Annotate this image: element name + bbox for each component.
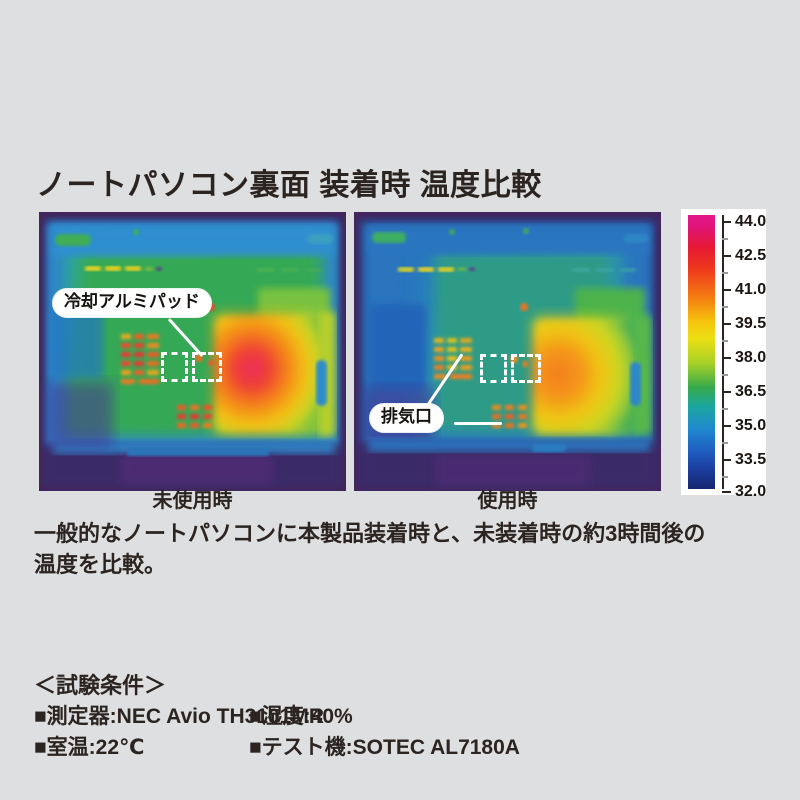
colorbar-tick-minor xyxy=(722,476,728,478)
colorbar-tick-minor xyxy=(722,442,728,444)
temperature-colorbar: 44.0 42.5 41.0 39.5 38.0 36.5 35.0 33.5 … xyxy=(681,209,766,495)
caption-used: 使用時 xyxy=(354,484,661,513)
callout-exhaust-vent: 排気口 xyxy=(370,404,443,432)
dashed-box-left xyxy=(161,352,188,382)
thermal-image-used: 排気口 xyxy=(354,212,661,491)
dashed-box-left xyxy=(480,354,507,383)
dashed-box-right xyxy=(511,354,541,383)
colorbar-tick-major xyxy=(722,391,731,393)
colorbar-tick-minor xyxy=(722,306,728,308)
thermal-heatmap-used xyxy=(354,212,661,491)
colorbar-label: 44.0 xyxy=(735,214,766,230)
condition-humidity: ■湿度:40% xyxy=(249,703,774,731)
colorbar-tick-minor xyxy=(722,408,728,410)
test-conditions-section: ＜試験条件＞ ■測定器:NEC Avio TH3101MR ■湿度:40% ■室… xyxy=(34,668,774,763)
description-line-2: 温度を比較。 xyxy=(34,549,774,580)
thermal-comparison-figure: 冷却アルミパッド xyxy=(39,212,761,492)
colorbar-axis: 44.0 42.5 41.0 39.5 38.0 36.5 35.0 33.5 … xyxy=(722,211,766,493)
colorbar-label: 39.5 xyxy=(735,316,766,332)
callout-leader-line-vent-lower xyxy=(454,422,502,425)
colorbar-label: 38.0 xyxy=(735,350,766,366)
colorbar-tick-major xyxy=(722,425,731,427)
thermal-canvas-used xyxy=(354,212,661,491)
colorbar-tick-major xyxy=(722,289,731,291)
colorbar-tick-major xyxy=(722,323,731,325)
dashed-box-right xyxy=(192,352,222,382)
description-line-1: 一般的なノートパソコンに本製品装着時と、未装着時の約3時間後の xyxy=(34,518,774,549)
test-conditions-row-2: ■室温:22℃ ■テスト機:SOTEC AL7180A xyxy=(34,734,774,762)
colorbar-tick-major xyxy=(722,491,731,493)
colorbar-label: 42.5 xyxy=(735,248,766,264)
test-conditions-col-right: ■テスト機:SOTEC AL7180A xyxy=(249,734,774,762)
caption-unused: 未使用時 xyxy=(39,484,346,513)
colorbar-tick-major xyxy=(722,255,731,257)
colorbar-label: 41.0 xyxy=(735,282,766,298)
colorbar-tick-minor xyxy=(722,238,728,240)
colorbar-tick-minor xyxy=(722,272,728,274)
test-conditions-col-left: ■測定器:NEC Avio TH3101MR xyxy=(34,703,249,731)
colorbar-gradient xyxy=(688,215,715,489)
test-conditions-col-right: ■湿度:40% xyxy=(249,703,774,731)
colorbar-label: 33.5 xyxy=(735,452,766,468)
condition-measuring-device: ■測定器:NEC Avio TH3101MR xyxy=(34,703,249,731)
test-conditions-heading: ＜試験条件＞ xyxy=(34,668,774,700)
test-conditions-col-left: ■室温:22℃ xyxy=(34,734,249,762)
colorbar-tick-major xyxy=(722,459,731,461)
colorbar-label: 32.0 xyxy=(735,484,766,500)
colorbar-tick-major xyxy=(722,221,731,223)
description-text: 一般的なノートパソコンに本製品装着時と、未装着時の約3時間後の 温度を比較。 xyxy=(34,518,774,580)
page-title: ノートパソコン裏面 装着時 温度比較 xyxy=(36,160,542,204)
condition-test-machine: ■テスト機:SOTEC AL7180A xyxy=(249,734,774,762)
colorbar-tick-major xyxy=(722,357,731,359)
colorbar-tick-minor xyxy=(722,374,728,376)
colorbar-label: 35.0 xyxy=(735,418,766,434)
colorbar-tick-minor xyxy=(722,340,728,342)
condition-room-temperature: ■室温:22℃ xyxy=(34,734,249,762)
test-conditions-row-1: ■測定器:NEC Avio TH3101MR ■湿度:40% xyxy=(34,703,774,731)
callout-cooling-pad: 冷却アルミパッド xyxy=(53,289,211,317)
thermal-image-unused: 冷却アルミパッド xyxy=(39,212,346,491)
colorbar-label: 36.5 xyxy=(735,384,766,400)
